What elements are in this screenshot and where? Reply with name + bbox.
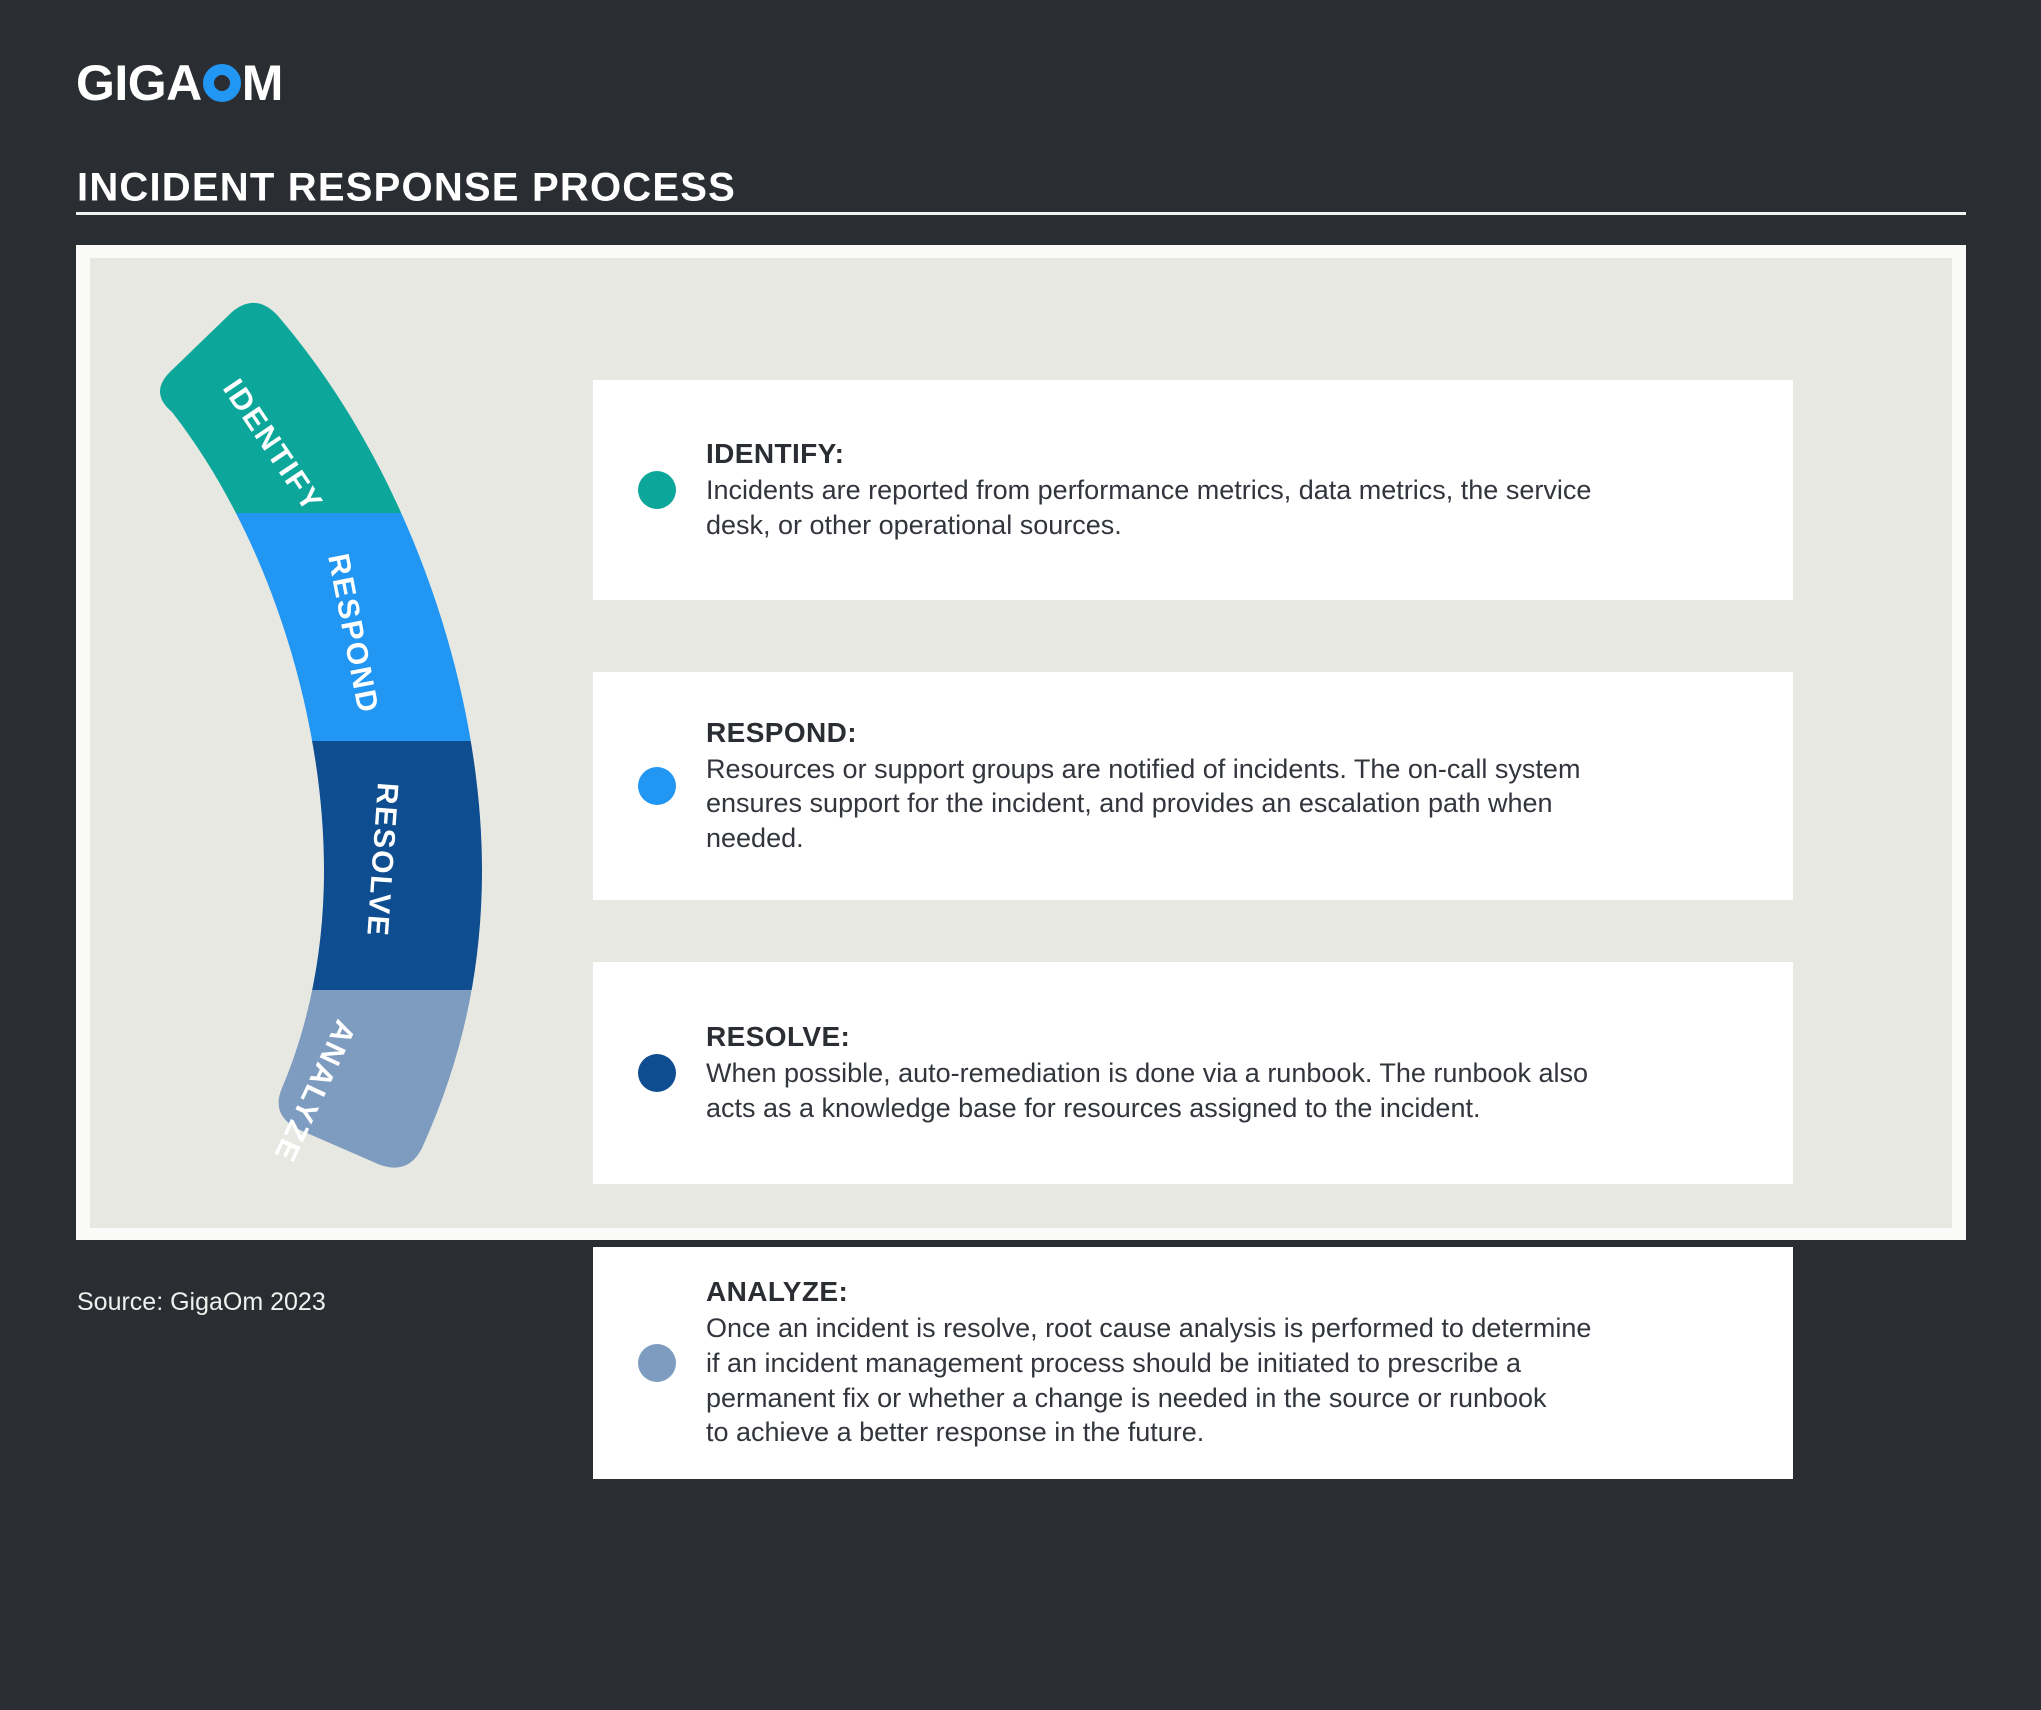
step-card-identify[interactable]: IDENTIFY: Incidents are reported from pe…: [593, 380, 1793, 600]
step-heading: RESOLVE:: [706, 1021, 1753, 1053]
bullet-respond-icon: [638, 767, 676, 805]
bullet-analyze-icon: [638, 1344, 676, 1382]
source-caption: Source: GigaOm 2023: [77, 1288, 326, 1317]
logo-o-icon: [203, 64, 241, 102]
arc-segments: [110, 270, 590, 1220]
infographic-page: GIGAM INCIDENT RESPONSE PROCESS IDENTIFY…: [0, 0, 2041, 1710]
step-heading: ANALYZE:: [706, 1276, 1753, 1308]
page-title: INCIDENT RESPONSE PROCESS: [77, 166, 736, 211]
step-card-body: ANALYZE: Once an incident is resolve, ro…: [706, 1276, 1793, 1449]
step-card-body: IDENTIFY: Incidents are reported from pe…: [706, 438, 1793, 542]
logo-text-before: GIGA: [76, 58, 202, 108]
step-card-analyze[interactable]: ANALYZE: Once an incident is resolve, ro…: [593, 1247, 1793, 1479]
step-heading: IDENTIFY:: [706, 438, 1753, 470]
step-text: Incidents are reported from performance …: [706, 473, 1753, 542]
arc-segment-identify: [110, 270, 590, 513]
step-card-body: RESOLVE: When possible, auto-remediation…: [706, 1021, 1793, 1125]
step-text: Resources or support groups are notified…: [706, 752, 1753, 856]
arc-segment-resolve: [110, 741, 590, 990]
process-arc: IDENTIFY RESPOND RESOLVE ANALYZE: [110, 270, 590, 1220]
step-text: When possible, auto-remediation is done …: [706, 1056, 1753, 1125]
step-heading: RESPOND:: [706, 717, 1753, 749]
bullet-identify-icon: [638, 471, 676, 509]
step-card-respond[interactable]: RESPOND: Resources or support groups are…: [593, 672, 1793, 900]
process-arc-svg: IDENTIFY RESPOND RESOLVE ANALYZE: [110, 270, 590, 1220]
logo-text-after: M: [242, 58, 283, 108]
bullet-resolve-icon: [638, 1054, 676, 1092]
gigaom-logo: GIGAM: [76, 58, 283, 108]
step-card-body: RESPOND: Resources or support groups are…: [706, 717, 1793, 856]
step-text: Once an incident is resolve, root cause …: [706, 1311, 1753, 1449]
title-divider: [76, 212, 1966, 215]
step-card-resolve[interactable]: RESOLVE: When possible, auto-remediation…: [593, 962, 1793, 1184]
